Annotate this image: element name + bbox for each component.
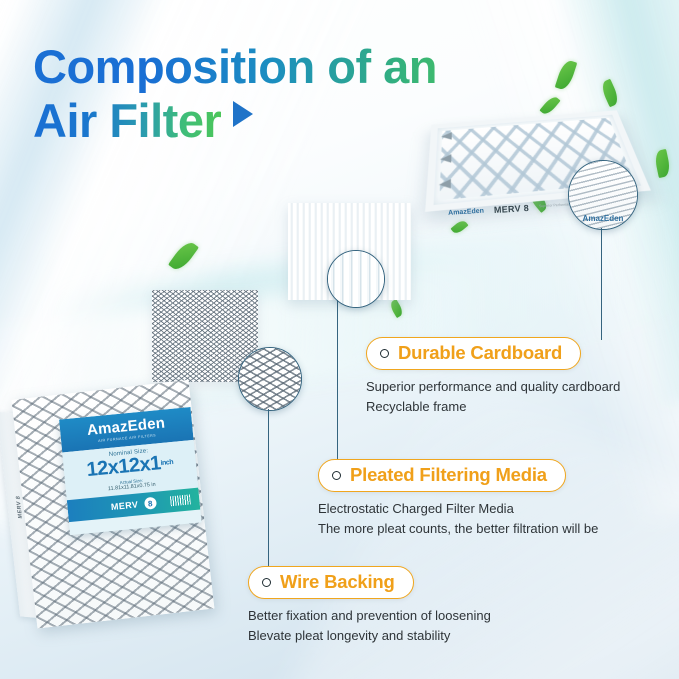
top-filter-brand: AmazEden (448, 207, 484, 216)
callout-description: Better fixation and prevention of loosen… (248, 606, 491, 646)
filter-pleat-icon (170, 494, 191, 506)
title-line-1: Composition of an (33, 40, 553, 94)
magnifier-brand-label: AmazEden (569, 214, 637, 223)
leaf-icon (653, 149, 671, 178)
callout-description-line: Recyclable frame (366, 397, 620, 417)
magnifier-pleated-media (327, 250, 385, 308)
airflow-arrow-icon (441, 132, 452, 140)
callout-pleated-filtering-media: Pleated Filtering Media Electrostatic Ch… (318, 459, 598, 539)
pleat-texture-zoom (328, 251, 384, 307)
callout-pill-pleated-filtering-media[interactable]: Pleated Filtering Media (318, 459, 566, 492)
callout-label: Durable Cardboard (398, 342, 562, 364)
top-filter-merv: MERV 8 (494, 203, 530, 215)
callout-description-line: Superior performance and quality cardboa… (366, 377, 620, 397)
leaf-icon (388, 299, 404, 318)
bullet-icon (380, 349, 389, 358)
callout-description-line: Better fixation and prevention of loosen… (248, 606, 491, 626)
airflow-arrows (438, 132, 452, 211)
bullet-icon (262, 578, 271, 587)
callout-durable-cardboard: Durable Cardboard Superior performance a… (366, 337, 620, 417)
leader-line-wire-backing (268, 409, 269, 568)
bullet-icon (332, 471, 341, 480)
product-label: AmazEden AIR FURNACE AIR FILTERS Nominal… (59, 407, 202, 535)
callout-label: Wire Backing (280, 571, 395, 593)
leaf-icon (555, 59, 578, 92)
product-box-illustration: MERV 8 AmazEden AIR FURNACE AIR FILTERS … (0, 380, 216, 631)
merv-rating-badge: 8 (144, 497, 157, 510)
merv-label: MERV (110, 499, 138, 512)
callout-description: Superior performance and quality cardboa… (366, 377, 620, 417)
product-box-face: AmazEden AIR FURNACE AIR FILTERS Nominal… (12, 380, 215, 629)
callout-description: Electrostatic Charged Filter Media The m… (318, 499, 598, 539)
magnifier-wire-backing (238, 347, 302, 411)
leader-line-cardboard (601, 228, 602, 340)
callout-label: Pleated Filtering Media (350, 464, 547, 486)
callout-description-line: Electrostatic Charged Filter Media (318, 499, 598, 519)
wire-mesh-texture-zoom (239, 348, 301, 410)
callout-description-line: The more pleat counts, the better filtra… (318, 519, 598, 539)
nominal-size-unit: inch (160, 459, 173, 467)
title-line-2-text: Air Filter (33, 94, 221, 147)
callout-pill-wire-backing[interactable]: Wire Backing (248, 566, 414, 599)
airflow-arrow-icon (440, 154, 451, 163)
infographic-canvas: Composition of an Air Filter AmazEden ME… (0, 0, 679, 679)
leader-line-pleated-media (337, 300, 338, 460)
magnifier-cardboard: AmazEden (568, 160, 638, 230)
callout-description-line: Blevate pleat longevity and stability (248, 626, 491, 646)
leaf-icon (599, 79, 621, 108)
triangle-right-icon (233, 101, 253, 127)
airflow-arrow-icon (439, 179, 451, 190)
callout-pill-durable-cardboard[interactable]: Durable Cardboard (366, 337, 581, 370)
callout-wire-backing: Wire Backing Better fixation and prevent… (248, 566, 491, 646)
